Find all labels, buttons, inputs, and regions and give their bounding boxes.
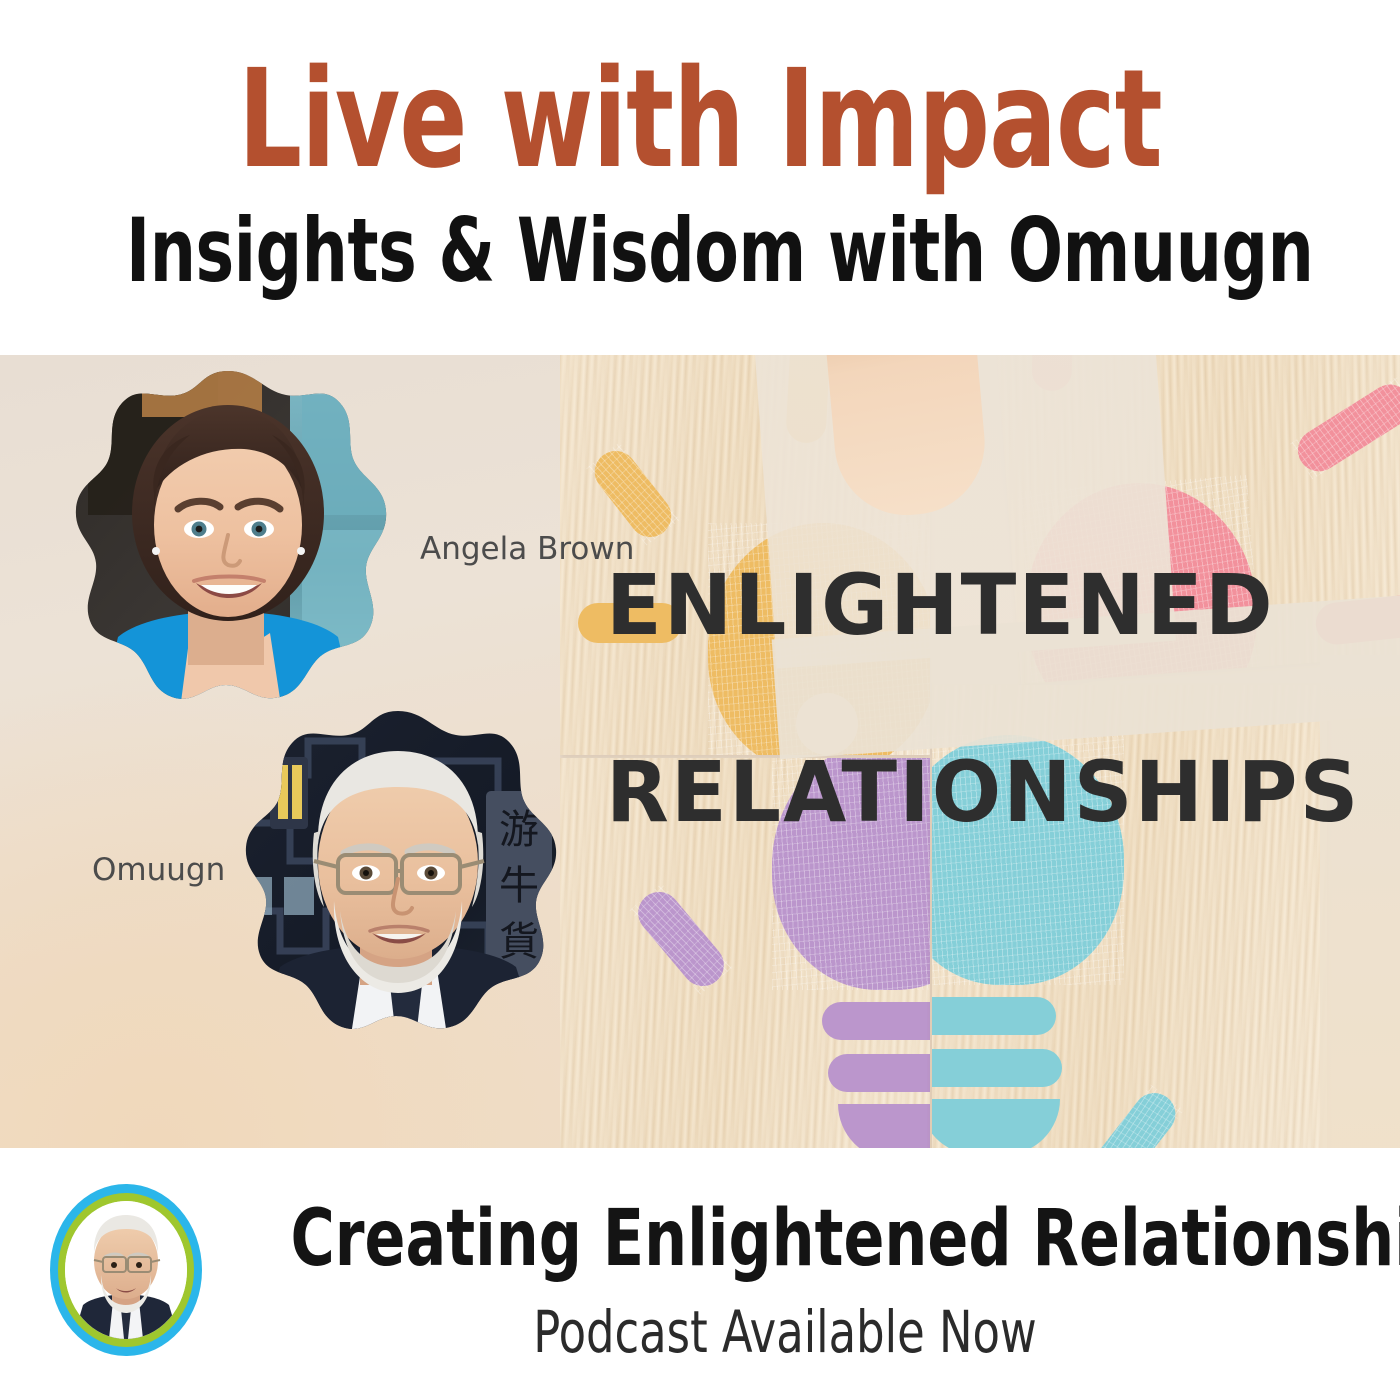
svg-text:貨: 貨 [499,919,539,965]
purple-bulb-base-band-2 [828,1054,930,1092]
angela-brown-portrait [58,365,398,725]
wooden-blocks-collage: ENLIGHTENED RELATIONSHIPS [560,355,1400,1148]
wood-block-bottom-right [932,685,1327,1148]
teal-bulb-base-tip [932,1099,1060,1148]
purple-bulb-glass [772,758,930,990]
teal-bulb-base-band-1 [932,997,1056,1035]
page-title: Live with Impact [126,52,1274,188]
header-banner: Live with Impact Insights & Wisdom with … [0,0,1400,355]
purple-bulb-base-tip [838,1104,930,1148]
svg-text:牛: 牛 [499,863,539,909]
guest-portrait-angela-brown [58,365,398,725]
podcast-logo-inner-ring [58,1193,194,1347]
avatar [65,1201,187,1339]
purple-bulb-base-band-1 [822,1002,930,1040]
episode-artwork: ENLIGHTENED RELATIONSHIPS [0,355,1400,1148]
ray-grit [1078,1085,1184,1148]
podcast-logo-outer-ring [50,1184,202,1356]
teal-bulb-glass [932,735,1124,985]
purple-bulb-ray-diagonal [630,883,733,994]
bulb-grit [772,758,930,990]
availability-text: Podcast Available Now [291,1303,1280,1361]
bulb-grit [932,735,1124,985]
omuugn-portrait: 游 牛 貨 [228,705,568,1055]
episode-title: Creating Enlightened Relationships [291,1200,1280,1278]
wood-block-bottom-left [560,758,930,1148]
omuugn-logo-portrait [65,1201,187,1339]
ray-grit [1290,377,1400,480]
yellow-bulb-ray-horizontal [578,603,682,643]
teal-bulb-base-band-2 [932,1049,1062,1087]
footer-bar: Creating Enlightened Relationships Podca… [0,1148,1400,1400]
teal-bulb-ray-diagonal [1078,1085,1184,1148]
guest-name-angela-brown: Angela Brown [420,531,634,567]
guest-portrait-omuugn: 游 牛 貨 [228,705,568,1055]
svg-text:游: 游 [499,807,539,853]
artwork-veil-right [1320,655,1400,1148]
guest-name-omuugn: Omuugn [92,852,225,888]
pink-bulb-ray-diagonal [1290,377,1400,480]
ray-grit [630,883,733,994]
page-subtitle: Insights & Wisdom with Omuugn [126,207,1274,295]
